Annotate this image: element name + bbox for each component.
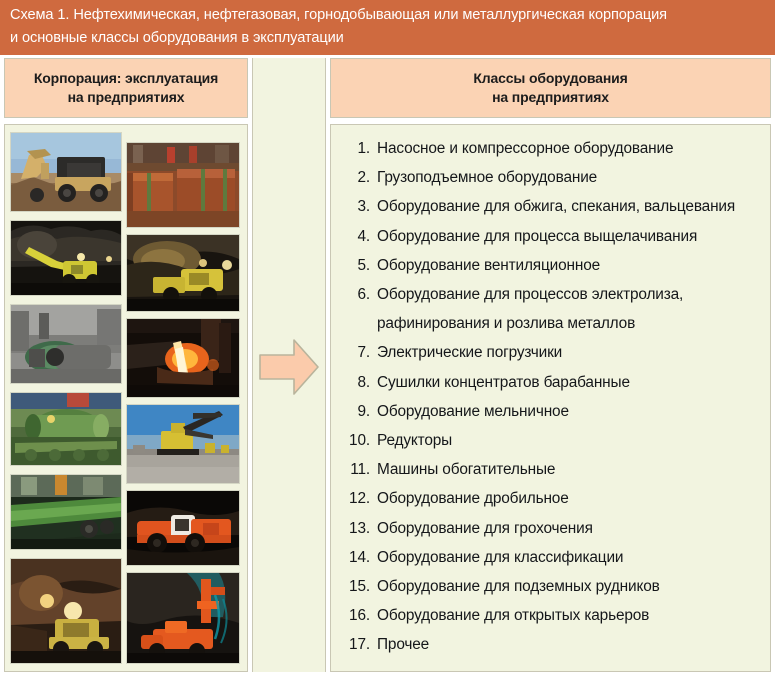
list-item-label: Электрические погрузчики (377, 338, 767, 367)
list-item: 12.Оборудование дробильное (342, 484, 767, 513)
list-item-label: Оборудование для процесса выщелачивания (377, 222, 767, 251)
list-item: 3.Оборудование для обжига, спекания, вал… (342, 192, 767, 221)
list-item: 6.Оборудование для процессов электролиза… (342, 280, 767, 338)
list-item: 2.Грузоподъемное оборудование (342, 163, 767, 192)
right-column-header-label: Классы оборудования на предприятиях (473, 69, 627, 107)
equipment-class-list: 1.Насосное и компрессорное оборудование2… (342, 134, 767, 660)
photo-molten-metal-pouring (127, 319, 239, 397)
list-item: 9.Оборудование мельничное (342, 397, 767, 426)
list-item-number: 2. (342, 163, 377, 192)
list-item-label: Оборудование для грохочения (377, 514, 767, 543)
right-column-header: Классы оборудования на предприятиях (330, 58, 771, 118)
list-item-label: Оборудование для обжига, спекания, вальц… (377, 192, 767, 221)
list-item: 15.Оборудование для подземных рудников (342, 572, 767, 601)
list-item: 13.Оборудование для грохочения (342, 514, 767, 543)
list-item-label: Сушилки концентратов барабанные (377, 368, 767, 397)
list-item-number: 4. (342, 222, 377, 251)
list-item: 7.Электрические погрузчики (342, 338, 767, 367)
photo-conveyor-belt-green (11, 475, 121, 549)
photo-ball-mill-green (11, 393, 121, 465)
page-title: Схема 1. Нефтехимическая, нефтегазовая, … (10, 4, 767, 50)
photo-orange-drill-jumbo (127, 573, 239, 663)
list-item: 10.Редукторы (342, 426, 767, 455)
scheme-figure: Схема 1. Нефтехимическая, нефтегазовая, … (0, 0, 775, 680)
photo-orange-underground-lhd (127, 491, 239, 565)
list-item-number: 17. (342, 630, 377, 659)
list-item: 4.Оборудование для процесса выщелачивани… (342, 222, 767, 251)
title-banner: Схема 1. Нефтехимическая, нефтегазовая, … (0, 0, 775, 55)
photo-underground-drill-rig (11, 221, 121, 295)
list-item: 16.Оборудование для открытых карьеров (342, 601, 767, 630)
list-item: 14.Оборудование для классификации (342, 543, 767, 572)
list-item-number: 12. (342, 484, 377, 513)
right-arrow-icon (256, 335, 322, 399)
list-item-number: 6. (342, 280, 377, 309)
list-item: 11.Машины обогатительные (342, 455, 767, 484)
photo-underground-bulldozer (11, 559, 121, 663)
list-item-number: 15. (342, 572, 377, 601)
list-item-number: 8. (342, 368, 377, 397)
list-item: 17.Прочее (342, 630, 767, 659)
list-item-label: Оборудование вентиляционное (377, 251, 767, 280)
list-item-number: 1. (342, 134, 377, 163)
list-item-number: 9. (342, 397, 377, 426)
photo-rotary-kiln-drive (11, 305, 121, 383)
list-item-number: 5. (342, 251, 377, 280)
left-column-header-label: Корпорация: эксплуатация на предприятиях (34, 69, 218, 107)
list-item-label: Прочее (377, 630, 767, 659)
photo-copper-cathode-stacks (127, 143, 239, 227)
list-item-label: Оборудование для подземных рудников (377, 572, 767, 601)
list-item-number: 11. (342, 455, 377, 484)
list-item-label: Редукторы (377, 426, 767, 455)
list-item: 8.Сушилки концентратов барабанные (342, 368, 767, 397)
list-item-number: 14. (342, 543, 377, 572)
left-column-header: Корпорация: эксплуатация на предприятиях (4, 58, 248, 118)
list-item-number: 16. (342, 601, 377, 630)
photo-open-pit-walking-excavator (127, 405, 239, 483)
list-item-label: Оборудование для процессов электролиза, … (377, 280, 767, 338)
list-item-number: 7. (342, 338, 377, 367)
left-photo-panel (4, 124, 248, 672)
list-item-number: 10. (342, 426, 377, 455)
list-item-label: Грузоподъемное оборудование (377, 163, 767, 192)
photo-excavator-loading-haul-truck (11, 133, 121, 211)
list-item-label: Оборудование дробильное (377, 484, 767, 513)
list-item-label: Оборудование для классификации (377, 543, 767, 572)
list-item: 5.Оборудование вентиляционное (342, 251, 767, 280)
list-item-label: Оборудование мельничное (377, 397, 767, 426)
list-item: 1.Насосное и компрессорное оборудование (342, 134, 767, 163)
list-item-number: 3. (342, 192, 377, 221)
list-item-label: Насосное и компрессорное оборудование (377, 134, 767, 163)
list-item-label: Машины обогатительные (377, 455, 767, 484)
photo-underground-loader (127, 235, 239, 311)
list-item-number: 13. (342, 514, 377, 543)
list-item-label: Оборудование для открытых карьеров (377, 601, 767, 630)
